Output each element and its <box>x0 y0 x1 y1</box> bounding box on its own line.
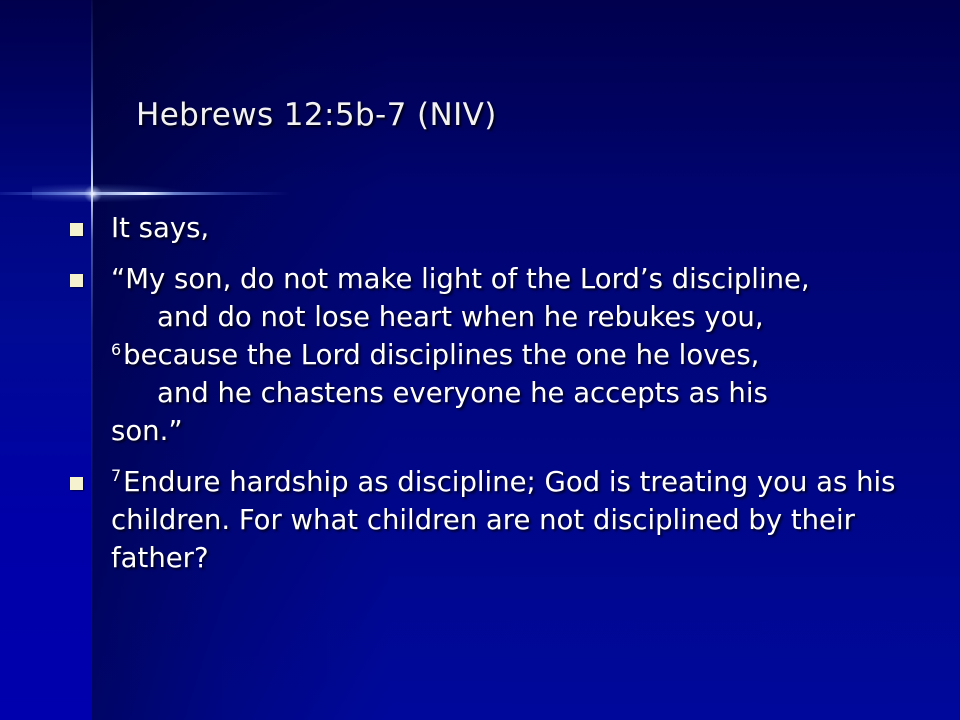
bullet-line: son.” <box>111 413 950 451</box>
verse-number: 6 <box>111 340 123 359</box>
bullet-row: It says, <box>70 210 950 248</box>
bullet-square-icon <box>70 477 83 490</box>
verse-number: 7 <box>111 466 123 485</box>
slide-body: It says,“My son, do not make light of th… <box>70 210 950 590</box>
decorative-crosshair-highlight <box>84 186 102 202</box>
bullet-line-text: because the Lord disciplines the one he … <box>123 339 759 371</box>
bullet-line: “My son, do not make light of the Lord’s… <box>111 261 950 299</box>
bullet-line-text: “My son, do not make light of the Lord’s… <box>111 263 810 295</box>
slide-title: Hebrews 12:5b-7 (NIV) <box>136 97 497 133</box>
decorative-vertical-rule-upper <box>91 0 93 193</box>
bullet-text: 7Endure hardship as discipline; God is t… <box>111 464 950 578</box>
presentation-slide: Hebrews 12:5b-7 (NIV) It says,“My son, d… <box>0 0 960 720</box>
bullet-line: and he chastens everyone he accepts as h… <box>111 375 950 413</box>
bullet-line-text: and do not lose heart when he rebukes yo… <box>157 301 764 333</box>
bullet-text: “My son, do not make light of the Lord’s… <box>111 261 950 451</box>
bullet-line-text: Endure hardship as discipline; God is tr… <box>111 466 895 574</box>
bullet-line-text: and he chastens everyone he accepts as h… <box>157 377 768 409</box>
bullet-line: It says, <box>111 210 950 248</box>
bullet-square-icon <box>70 274 83 287</box>
bullet-text: It says, <box>111 210 950 248</box>
bullet-line: and do not lose heart when he rebukes yo… <box>111 299 950 337</box>
bullet-line-text: son.” <box>111 415 183 447</box>
bullet-row: “My son, do not make light of the Lord’s… <box>70 261 950 451</box>
bullet-row: 7Endure hardship as discipline; God is t… <box>70 464 950 578</box>
bullet-line: 6because the Lord disciplines the one he… <box>111 337 950 375</box>
bullet-square-icon <box>70 223 83 236</box>
bullet-line-text: It says, <box>111 212 209 244</box>
bullet-line: 7Endure hardship as discipline; God is t… <box>111 464 950 578</box>
decorative-rule-glow <box>32 184 182 202</box>
